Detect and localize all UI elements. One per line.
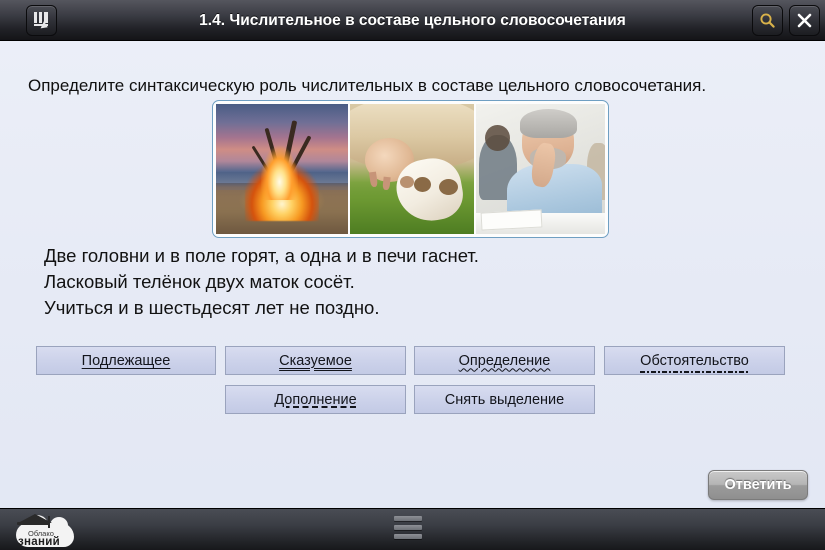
option-label: Определение [459,353,551,369]
calf-nursing-cow-photo [350,104,474,234]
sentence-list: Две головни и в поле горят, а одна и в п… [44,243,479,321]
grid-arrow-icon [33,12,50,29]
lesson-window: 1.4. Числительное в составе цельного сло… [0,0,825,550]
option-label: Дополнение [274,392,356,408]
option-label: Подлежащее [82,353,171,369]
search-icon [759,12,776,29]
question-prompt: Определите синтаксическую роль числитель… [28,76,706,96]
close-icon [796,12,813,29]
oblako-znaniy-logo[interactable]: Облако знаний [14,513,76,549]
logo-line-2: знаний [18,536,60,548]
option-label: Снять выделение [445,392,564,408]
close-button[interactable] [789,5,820,36]
option-button-skazuemoe[interactable]: Сказуемое [225,346,406,375]
search-button[interactable] [752,5,783,36]
lesson-grid-button[interactable] [26,5,57,36]
sentence-1[interactable]: Две головни и в поле горят, а одна и в п… [44,243,479,269]
title-bar: 1.4. Числительное в составе цельного сло… [0,0,825,41]
submit-answer-label: Ответить [724,477,791,493]
option-button-dopolnenie[interactable]: Дополнение [225,385,406,414]
bonfire-on-beach-photo [216,104,348,234]
hamburger-menu-icon[interactable] [394,512,422,542]
sentence-2[interactable]: Ласковый телёнок двух маток сосёт. [44,269,479,295]
option-button-podlezhashchee[interactable]: Подлежащее [36,346,216,375]
sentence-3[interactable]: Учиться и в шестьдесят лет не поздно. [44,295,479,321]
man-studying-photo [476,104,605,234]
page-title: 1.4. Числительное в составе цельного сло… [90,0,735,41]
illustration-strip [212,100,609,238]
option-button-obstoyatelstvo[interactable]: Обстоятельство [604,346,785,375]
option-button-opredelenie[interactable]: Определение [414,346,595,375]
option-button-clear-selection[interactable]: Снять выделение [414,385,595,414]
submit-answer-button[interactable]: Ответить [708,470,808,500]
option-label: Обстоятельство [640,353,749,369]
option-label: Сказуемое [279,353,352,369]
